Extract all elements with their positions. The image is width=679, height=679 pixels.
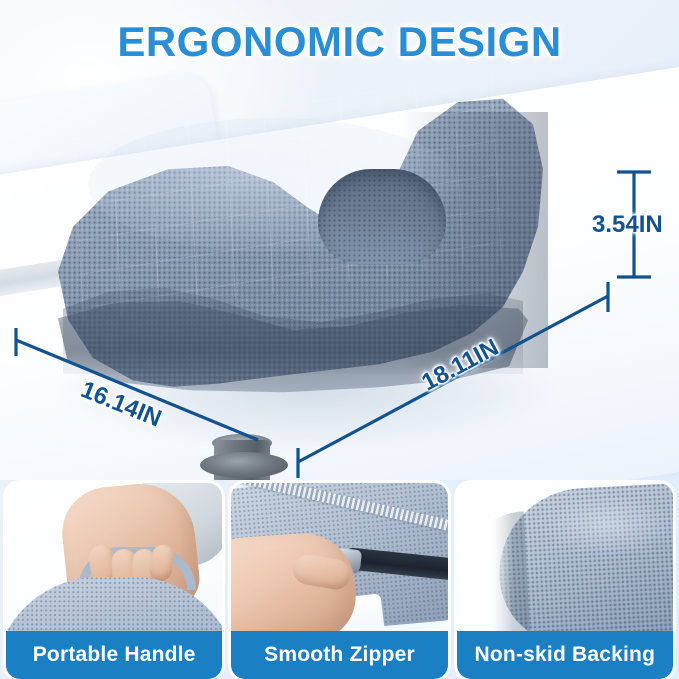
surface-highlight bbox=[543, 495, 673, 555]
chair-stand-base bbox=[200, 452, 288, 478]
page-title: ERGONOMIC DESIGN bbox=[0, 18, 679, 66]
cushion-coccyx-cutout bbox=[318, 169, 446, 265]
feature-label-smooth-zipper: Smooth Zipper bbox=[231, 631, 447, 679]
feature-label-non-skid-backing: Non-skid Backing bbox=[457, 631, 673, 679]
feature-panels: Portable Handle Smooth Zipper bbox=[0, 483, 679, 679]
seat-cushion-product bbox=[48, 86, 548, 406]
photo-left-fade bbox=[457, 483, 513, 653]
product-infographic: 3.54IN 16.14IN 18.11IN ERGONOMIC DESIGN bbox=[0, 0, 679, 679]
cutout-mesh-texture bbox=[318, 169, 446, 265]
feature-card-portable-handle[interactable]: Portable Handle bbox=[6, 483, 222, 679]
feature-label-portable-handle: Portable Handle bbox=[6, 631, 222, 679]
cushion-mesh-texture bbox=[48, 86, 548, 406]
feature-card-non-skid-backing[interactable]: Non-skid Backing bbox=[457, 483, 673, 679]
feature-card-smooth-zipper[interactable]: Smooth Zipper bbox=[231, 483, 447, 679]
hero-product-scene: 3.54IN 16.14IN 18.11IN bbox=[0, 0, 679, 480]
